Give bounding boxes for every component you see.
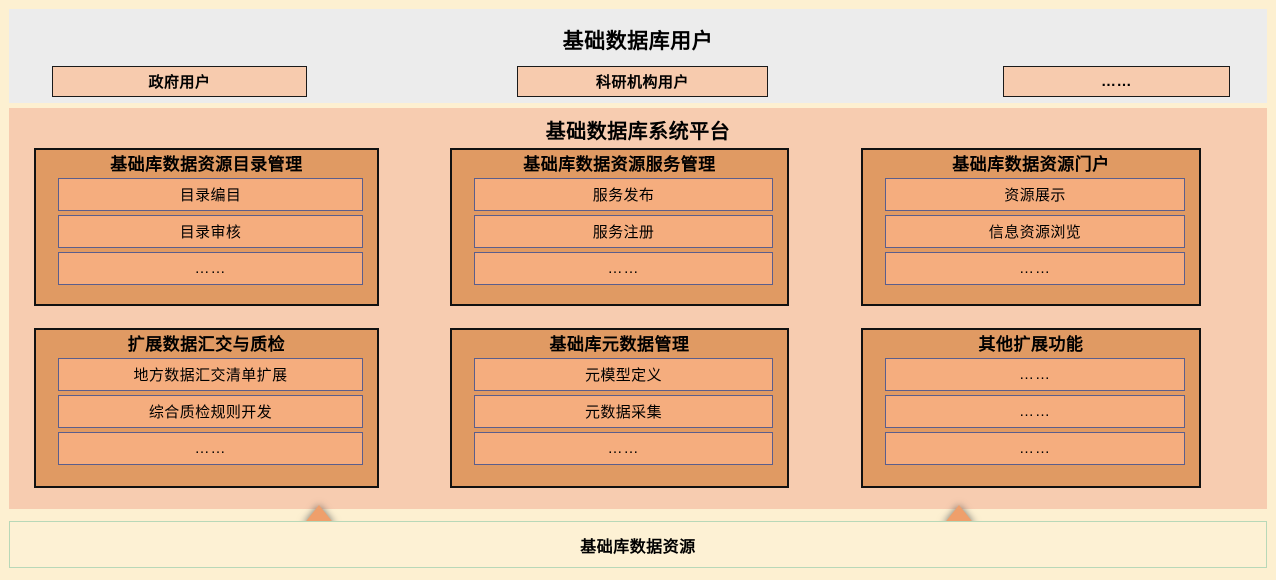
module-item-list: …… …… …… bbox=[863, 358, 1199, 471]
module-resource-portal[interactable]: 基础库数据资源门户 资源展示 信息资源浏览 …… bbox=[861, 148, 1201, 306]
user-box-research-institution[interactable]: 科研机构用户 bbox=[517, 66, 768, 97]
module-item[interactable]: 服务注册 bbox=[474, 215, 773, 248]
user-box-government[interactable]: 政府用户 bbox=[52, 66, 307, 97]
module-item[interactable]: 元模型定义 bbox=[474, 358, 773, 391]
module-item[interactable]: …… bbox=[474, 252, 773, 285]
module-title: 扩展数据汇交与质检 bbox=[36, 330, 377, 358]
module-item[interactable]: …… bbox=[885, 358, 1185, 391]
module-data-submission-quality[interactable]: 扩展数据汇交与质检 地方数据汇交清单扩展 综合质检规则开发 …… bbox=[34, 328, 379, 488]
module-service-management[interactable]: 基础库数据资源服务管理 服务发布 服务注册 …… bbox=[450, 148, 789, 306]
user-box-label: 科研机构用户 bbox=[596, 71, 689, 92]
user-box-label: …… bbox=[1101, 73, 1132, 90]
resource-panel-title: 基础库数据资源 bbox=[580, 533, 696, 557]
module-title: 基础库数据资源门户 bbox=[863, 150, 1199, 178]
platform-panel-title: 基础数据库系统平台 bbox=[9, 115, 1267, 144]
module-item[interactable]: …… bbox=[885, 395, 1185, 428]
module-item[interactable]: 综合质检规则开发 bbox=[58, 395, 363, 428]
module-item[interactable]: …… bbox=[474, 432, 773, 465]
module-item-list: 目录编目 目录审核 …… bbox=[36, 178, 377, 291]
module-catalog-management[interactable]: 基础库数据资源目录管理 目录编目 目录审核 …… bbox=[34, 148, 379, 306]
module-item[interactable]: 信息资源浏览 bbox=[885, 215, 1185, 248]
module-item-list: 资源展示 信息资源浏览 …… bbox=[863, 178, 1199, 291]
module-item[interactable]: 地方数据汇交清单扩展 bbox=[58, 358, 363, 391]
module-item[interactable]: 元数据采集 bbox=[474, 395, 773, 428]
module-item[interactable]: 服务发布 bbox=[474, 178, 773, 211]
module-item[interactable]: …… bbox=[58, 432, 363, 465]
module-item[interactable]: 资源展示 bbox=[885, 178, 1185, 211]
user-box-label: 政府用户 bbox=[148, 71, 210, 92]
module-item[interactable]: 目录审核 bbox=[58, 215, 363, 248]
user-box-others[interactable]: …… bbox=[1003, 66, 1230, 97]
module-title: 基础库数据资源服务管理 bbox=[452, 150, 787, 178]
users-panel: 基础数据库用户 政府用户 科研机构用户 …… bbox=[9, 9, 1267, 103]
module-item[interactable]: …… bbox=[58, 252, 363, 285]
module-item[interactable]: …… bbox=[885, 432, 1185, 465]
resource-panel: 基础库数据资源 bbox=[9, 521, 1267, 568]
module-item[interactable]: …… bbox=[885, 252, 1185, 285]
module-title: 基础库数据资源目录管理 bbox=[36, 150, 377, 178]
module-title: 基础库元数据管理 bbox=[452, 330, 787, 358]
module-metadata-management[interactable]: 基础库元数据管理 元模型定义 元数据采集 …… bbox=[450, 328, 789, 488]
module-other-extensions[interactable]: 其他扩展功能 …… …… …… bbox=[861, 328, 1201, 488]
users-panel-title: 基础数据库用户 bbox=[9, 25, 1267, 55]
module-item[interactable]: 目录编目 bbox=[58, 178, 363, 211]
module-item-list: 地方数据汇交清单扩展 综合质检规则开发 …… bbox=[36, 358, 377, 471]
module-title: 其他扩展功能 bbox=[863, 330, 1199, 358]
module-item-list: 元模型定义 元数据采集 …… bbox=[452, 358, 787, 471]
module-item-list: 服务发布 服务注册 …… bbox=[452, 178, 787, 291]
platform-panel: 基础数据库系统平台 基础库数据资源目录管理 目录编目 目录审核 …… 基础库数据… bbox=[9, 108, 1267, 509]
